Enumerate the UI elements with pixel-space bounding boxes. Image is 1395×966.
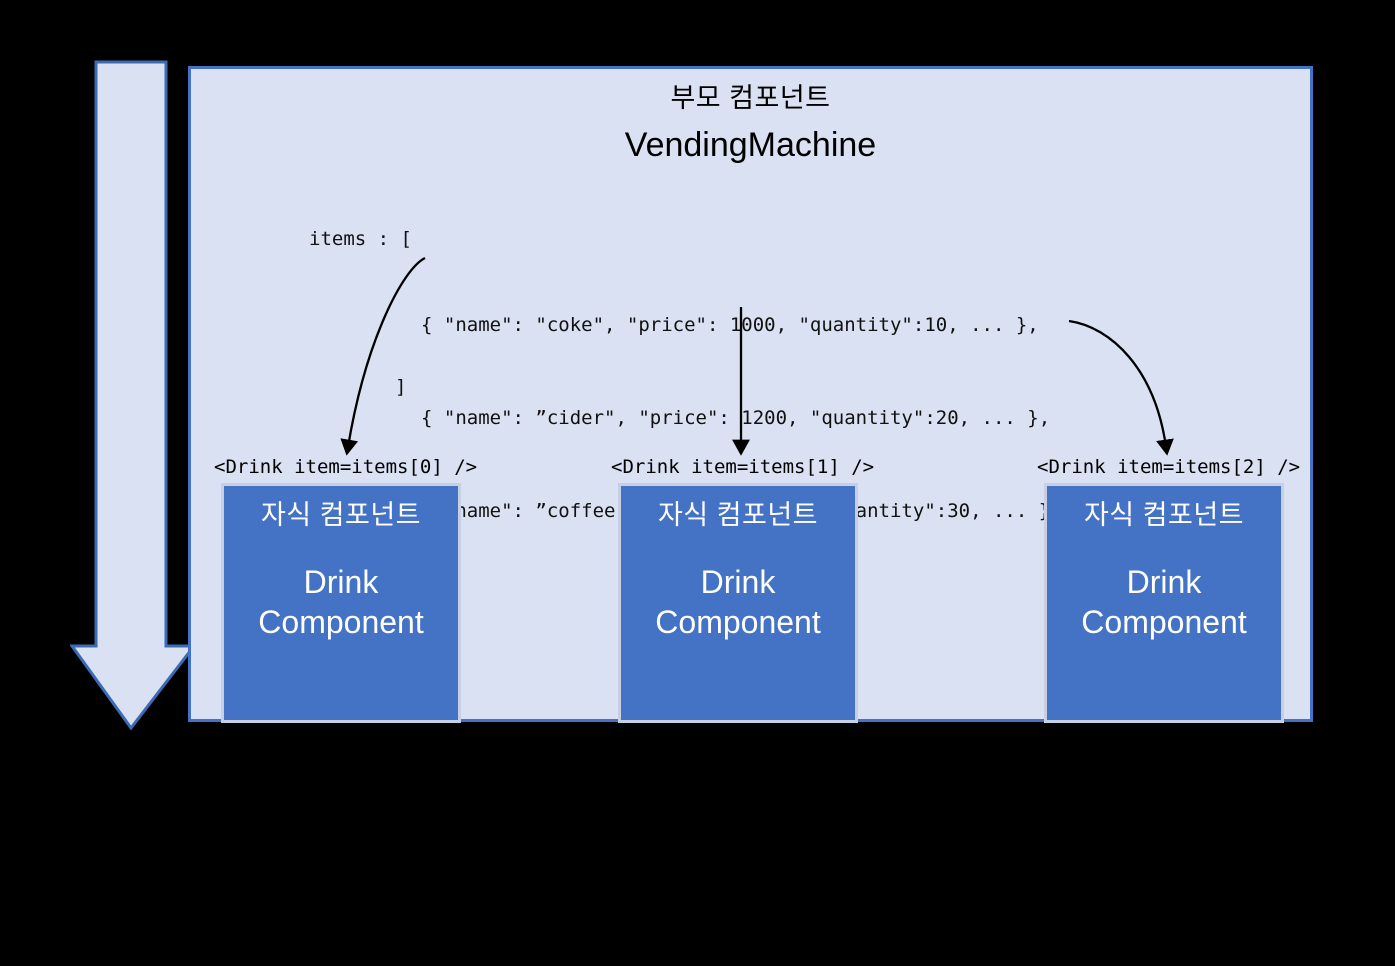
- child-title-line2-0: Component: [258, 602, 423, 642]
- child-component-box-0[interactable]: 자식 컴포넌트 Drink Component: [221, 483, 461, 723]
- child-component-0: <Drink item=items[0] /> 자식 컴포넌트 Drink Co…: [221, 455, 461, 723]
- parent-component-container: 부모 컴포넌트 VendingMachine items : [ { "name…: [188, 66, 1313, 722]
- child-usage-tag-0: <Drink item=items[0] />: [214, 455, 468, 479]
- flow-direction-arrow-icon: [70, 60, 196, 732]
- child-title-name-1: Drink Component: [655, 562, 820, 642]
- child-title-line1-0: Drink: [258, 562, 423, 602]
- child-title-line1-1: Drink: [655, 562, 820, 602]
- child-title-name-0: Drink Component: [258, 562, 423, 642]
- child-component-2: <Drink item=items[2] /> 자식 컴포넌트 Drink Co…: [1044, 455, 1284, 723]
- child-title-line2-1: Component: [655, 602, 820, 642]
- child-usage-tag-1: <Drink item=items[1] />: [611, 455, 865, 479]
- items-code-block: items : [ { "name": "coke", "price": 100…: [309, 224, 378, 379]
- items-row-1: { "name": ”cider", "price": 1200, "quant…: [421, 403, 1062, 434]
- child-title-korean-1: 자식 컴포넌트: [658, 498, 818, 532]
- items-row-0: { "name": "coke", "price": 1000, "quanti…: [421, 310, 1062, 341]
- parent-title-korean: 부모 컴포넌트: [191, 81, 1310, 115]
- child-title-line2-2: Component: [1081, 602, 1246, 642]
- child-title-name-2: Drink Component: [1081, 562, 1246, 642]
- child-title-line1-2: Drink: [1081, 562, 1246, 602]
- parent-title-name: VendingMachine: [191, 124, 1310, 166]
- child-component-box-1[interactable]: 자식 컴포넌트 Drink Component: [618, 483, 858, 723]
- child-title-korean-0: 자식 컴포넌트: [261, 498, 421, 532]
- diagram-canvas: 부모 컴포넌트 VendingMachine items : [ { "name…: [0, 0, 1395, 966]
- child-component-box-2[interactable]: 자식 컴포넌트 Drink Component: [1044, 483, 1284, 723]
- items-array-close-bracket: ]: [395, 372, 406, 403]
- child-title-korean-2: 자식 컴포넌트: [1084, 498, 1244, 532]
- items-label: items : [: [309, 224, 412, 255]
- connector-arrow-2: [1069, 321, 1166, 447]
- child-usage-tag-2: <Drink item=items[2] />: [1037, 455, 1291, 479]
- child-component-1: <Drink item=items[1] /> 자식 컴포넌트 Drink Co…: [618, 455, 858, 723]
